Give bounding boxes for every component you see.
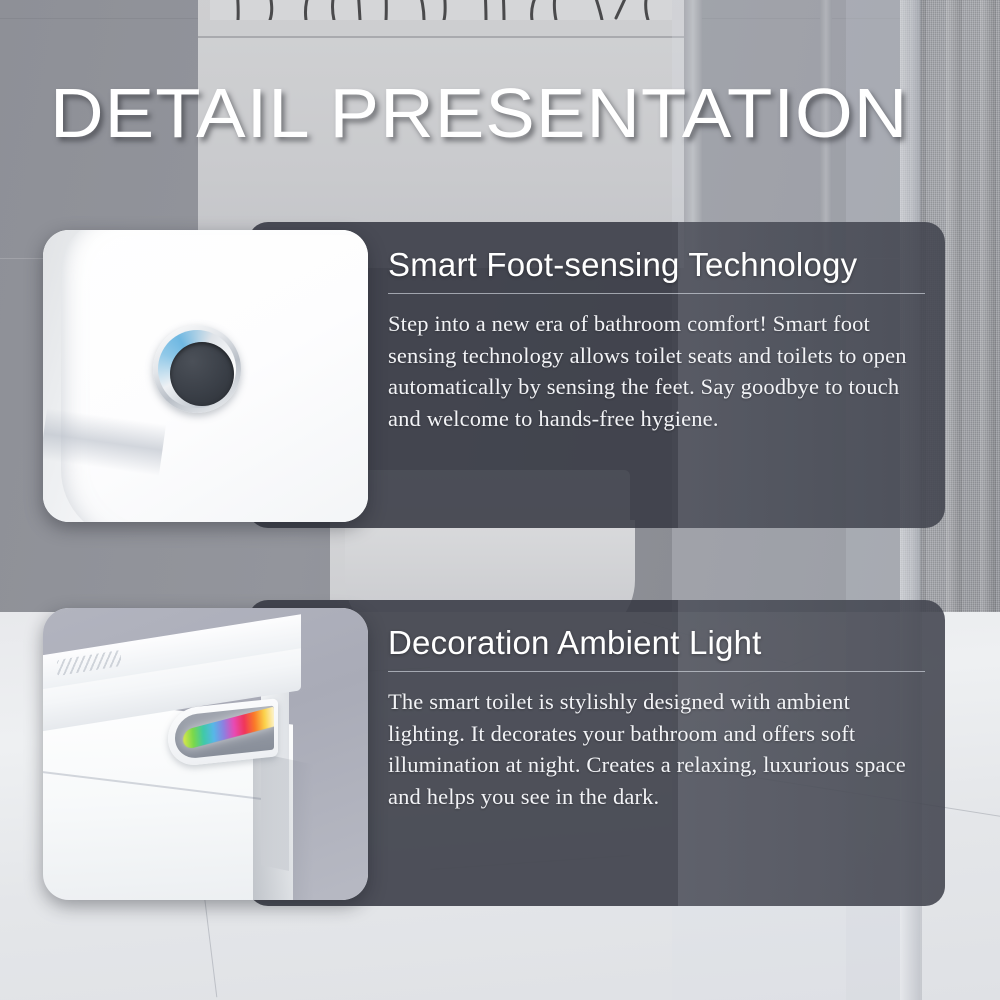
sensor-lens — [170, 342, 234, 406]
feature-body: The smart toilet is stylishly designed w… — [388, 686, 925, 812]
heading-divider — [388, 671, 925, 672]
feature-body: Step into a new era of bathroom comfort!… — [388, 308, 925, 434]
feature-heading: Smart Foot-sensing Technology — [388, 244, 925, 286]
heading-divider — [388, 293, 925, 294]
feature-image-foot-sensor — [43, 230, 368, 522]
foot-sensor-icon — [153, 325, 241, 413]
feature-text-block: Decoration Ambient Light The smart toile… — [388, 622, 925, 812]
feature-text-block: Smart Foot-sensing Technology Step into … — [388, 244, 925, 434]
line-art-drawing — [210, 0, 672, 20]
wall-picture-frame — [198, 0, 684, 38]
feature-image-ambient-light — [43, 608, 368, 900]
picture-mat — [210, 0, 672, 20]
cast-shadow — [253, 752, 313, 900]
sensor-chrome-ring — [158, 330, 236, 408]
light-recess — [175, 706, 274, 760]
rgb-light-strip — [182, 706, 274, 750]
feature-heading: Decoration Ambient Light — [388, 622, 925, 664]
product-detail-graphic: DETAIL PRESENTATION Smart Foot-sensing T… — [0, 0, 1000, 1000]
page-title: DETAIL PRESENTATION — [50, 76, 1000, 150]
feature-row-foot-sensing: Smart Foot-sensing Technology Step into … — [0, 222, 1000, 528]
feature-row-ambient-light: Decoration Ambient Light The smart toile… — [0, 600, 1000, 906]
